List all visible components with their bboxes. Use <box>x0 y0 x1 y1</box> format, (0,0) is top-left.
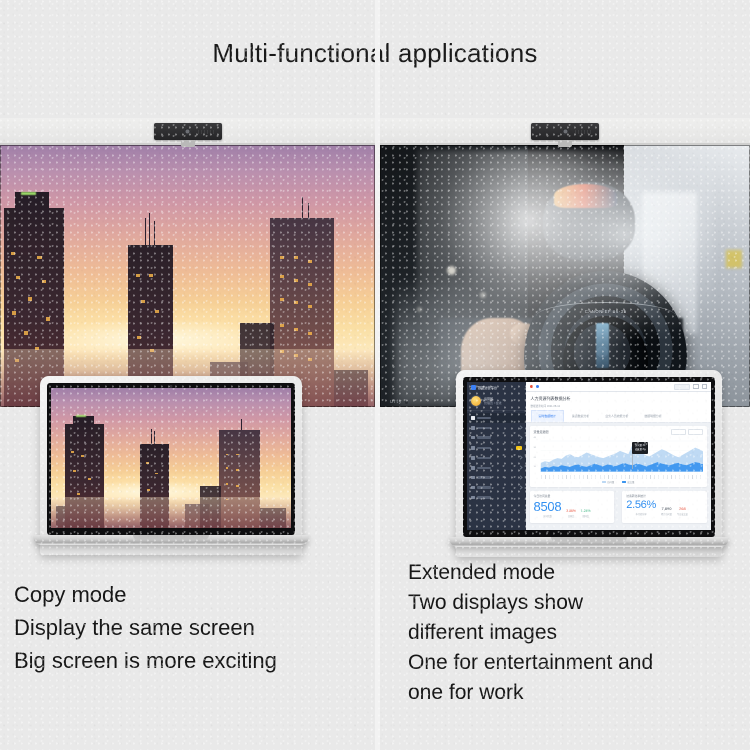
webcam-grille <box>575 130 591 134</box>
power-led-icon <box>405 401 408 404</box>
nav-badge <box>516 446 522 450</box>
stat-delta-up: 3.86% 日同比 <box>566 509 576 518</box>
right-laptop-screen: 数据运营平台 运营部 管理员 / 在线 <box>467 382 711 530</box>
analytics-dashboard: 数据运营平台 运营部 管理员 / 在线 <box>467 382 711 530</box>
channel-icon <box>471 446 475 450</box>
smoke-layer <box>417 150 713 402</box>
sidebar-nav <box>467 411 526 502</box>
dashboard-sidebar: 数据运营平台 运营部 管理员 / 在线 <box>467 382 526 530</box>
dashboard-main: 人力资源列表数据分析 数据更新时间 2021-08-12 实时数据统计 渠道数据… <box>526 382 711 530</box>
gear-icon <box>471 486 475 490</box>
stat-side-1: 268 今日成交量 <box>677 506 688 516</box>
sidebar-item-7[interactable] <box>467 483 526 493</box>
left-monitor-top-bezel <box>0 118 375 145</box>
webcam-grille <box>198 130 214 134</box>
filter-select[interactable] <box>688 429 703 435</box>
chart-svg <box>534 437 703 477</box>
sky-gradient <box>0 145 375 407</box>
stat-unit: 访问次数 <box>534 514 562 518</box>
left-laptop-base <box>33 535 309 545</box>
photo-bg-right <box>624 145 750 407</box>
search-input[interactable] <box>674 384 690 390</box>
brand-logo-icon <box>471 385 476 390</box>
tab-2[interactable]: 业务人员效能分析 <box>597 410 636 422</box>
left-laptop-lid <box>40 376 302 555</box>
caption-line: Big screen is more exciting <box>14 644 277 677</box>
stat-title: 访客转化率统计 <box>626 494 703 498</box>
stat-delta-down: 1.24% 周同比 <box>581 509 591 518</box>
left-laptop-screen <box>51 388 291 528</box>
right-panel-extended-mode: CANON EF 16-35 urty <box>380 118 750 750</box>
sidebar-item-8[interactable] <box>467 493 526 503</box>
caption-line: different images <box>408 618 653 648</box>
caption-line: Copy mode <box>14 578 277 611</box>
brand-text: 数据运营平台 <box>478 385 497 390</box>
sidebar-item-3[interactable] <box>467 443 526 453</box>
stat-cards-row: 今日访问总量 8508 访问次数 3.86% <box>526 490 711 526</box>
chart-title: 流量走势图 <box>534 430 549 434</box>
webcam-mount <box>558 140 572 147</box>
right-monitor-top-bezel <box>380 118 750 145</box>
caption-line: One for entertainment and <box>408 648 653 678</box>
chart-legend: 访问量 成交量 <box>534 480 703 484</box>
grid-icon[interactable] <box>693 384 699 390</box>
poster-root: Multi-functional applications <box>0 0 750 750</box>
chevron-right-icon <box>518 476 522 480</box>
page-title: 人力资源列表数据分析 <box>531 396 706 402</box>
tab-indicator-icon[interactable] <box>536 385 539 388</box>
right-laptop-lid: 数据运营平台 运营部 管理员 / 在线 <box>456 370 722 557</box>
right-laptop-base <box>449 537 729 547</box>
photographer-image: CANON EF 16-35 <box>380 145 750 407</box>
range-select[interactable] <box>671 429 686 435</box>
stat-value: 8508 <box>534 500 562 513</box>
right-laptop: 数据运营平台 运营部 管理员 / 在线 <box>456 370 722 557</box>
chart-tooltip: 访问量 34 成交量 8 <box>632 442 649 454</box>
chart-icon <box>471 436 475 440</box>
horizon-glow <box>0 302 375 370</box>
caption-line: Extended mode <box>408 558 653 588</box>
chevron-right-icon <box>518 485 522 489</box>
chevron-right-icon <box>518 456 522 460</box>
webcam-icon <box>531 123 599 140</box>
laptop-trackpad-notch <box>551 537 627 542</box>
legend-item-1[interactable]: 成交量 <box>622 480 634 484</box>
chevron-right-icon <box>518 436 522 440</box>
caption-line: Two displays show <box>408 588 653 618</box>
caption-line: Display the same screen <box>14 611 277 644</box>
left-panel-copy-mode: Copy mode Display the same screen Big sc… <box>0 118 375 750</box>
sidebar-user[interactable]: 运营部 管理员 / 在线 <box>467 393 526 411</box>
stat-side-0: 7,890 累计访问量 <box>661 506 672 516</box>
dashboard-page-header: 人力资源列表数据分析 数据更新时间 2021-08-12 <box>526 392 711 410</box>
close-icon[interactable] <box>530 385 533 388</box>
tab-3[interactable]: 数据明细分析 <box>636 410 669 422</box>
x-axis <box>541 475 703 479</box>
stat-card-conversion: 访客转化率统计 2.56% 本月转化率 7,890 <box>622 491 707 523</box>
photo-bg-left <box>380 145 528 407</box>
right-monitor-screen: CANON EF 16-35 urty <box>380 145 750 407</box>
caption-line: one for work <box>408 678 653 708</box>
sidebar-item-5[interactable] <box>467 463 526 473</box>
sidebar-item-6[interactable] <box>467 473 526 483</box>
smoke-layer <box>484 161 713 344</box>
sidebar-item-1[interactable] <box>467 423 526 433</box>
finance-icon <box>471 466 475 470</box>
ops-icon <box>471 476 475 480</box>
people-icon <box>471 426 475 430</box>
area-chart: 4030 2010 <box>534 437 703 477</box>
stat-card-visits: 今日访问总量 8508 访问次数 3.86% <box>530 491 615 523</box>
webcam-lens-icon <box>184 128 191 135</box>
webcam-lens-icon <box>562 128 569 135</box>
right-monitor: CANON EF 16-35 urty <box>380 118 750 407</box>
webcam-mount <box>181 140 195 147</box>
monitor-brand-label: urty <box>390 399 408 405</box>
left-laptop <box>40 376 302 555</box>
bell-icon[interactable] <box>702 384 708 390</box>
sidebar-item-2[interactable] <box>467 433 526 443</box>
legend-item-0[interactable]: 访问量 <box>602 480 614 484</box>
dashboard-brand: 数据运营平台 <box>467 385 526 393</box>
lens-text: CANON EF 16-35 <box>524 309 687 314</box>
dashboard-tabs: 实时数据统计 渠道数据分析 业务人员效能分析 数据明细分析 <box>526 410 711 423</box>
stat-value: 2.56% <box>626 500 656 511</box>
user-role: 管理员 / 在线 <box>484 401 502 405</box>
help-icon <box>471 496 475 500</box>
webcam-icon <box>154 123 222 140</box>
copy-mode-caption: Copy mode Display the same screen Big sc… <box>14 578 277 677</box>
home-icon <box>471 416 475 420</box>
left-monitor-screen <box>0 145 375 407</box>
sidebar-item-4[interactable] <box>467 453 526 463</box>
photographer-head <box>543 182 636 261</box>
left-monitor <box>0 118 375 407</box>
page-subtitle: 数据更新时间 2021-08-12 <box>531 404 706 408</box>
sidebar-item-0[interactable] <box>467 413 526 423</box>
stat-unit: 本月转化率 <box>626 512 656 516</box>
panel-divider <box>375 0 380 750</box>
tab-1[interactable]: 渠道数据分析 <box>564 410 597 422</box>
tab-0[interactable]: 实时数据统计 <box>531 410 564 422</box>
city-sunset-image <box>0 145 375 407</box>
extended-mode-caption: Extended mode Two displays show differen… <box>408 558 653 708</box>
avatar <box>471 396 481 406</box>
city-sunset-image-copy <box>51 388 291 528</box>
traffic-chart-card: 流量走势图 4030 <box>530 426 707 487</box>
order-icon <box>471 456 475 460</box>
dashboard-topbar <box>526 382 711 392</box>
chevron-right-icon <box>518 466 522 470</box>
chevron-right-icon <box>518 426 522 430</box>
laptop-trackpad-notch <box>133 535 209 540</box>
stat-title: 今日访问总量 <box>534 494 611 498</box>
photographer-cap <box>554 184 617 208</box>
